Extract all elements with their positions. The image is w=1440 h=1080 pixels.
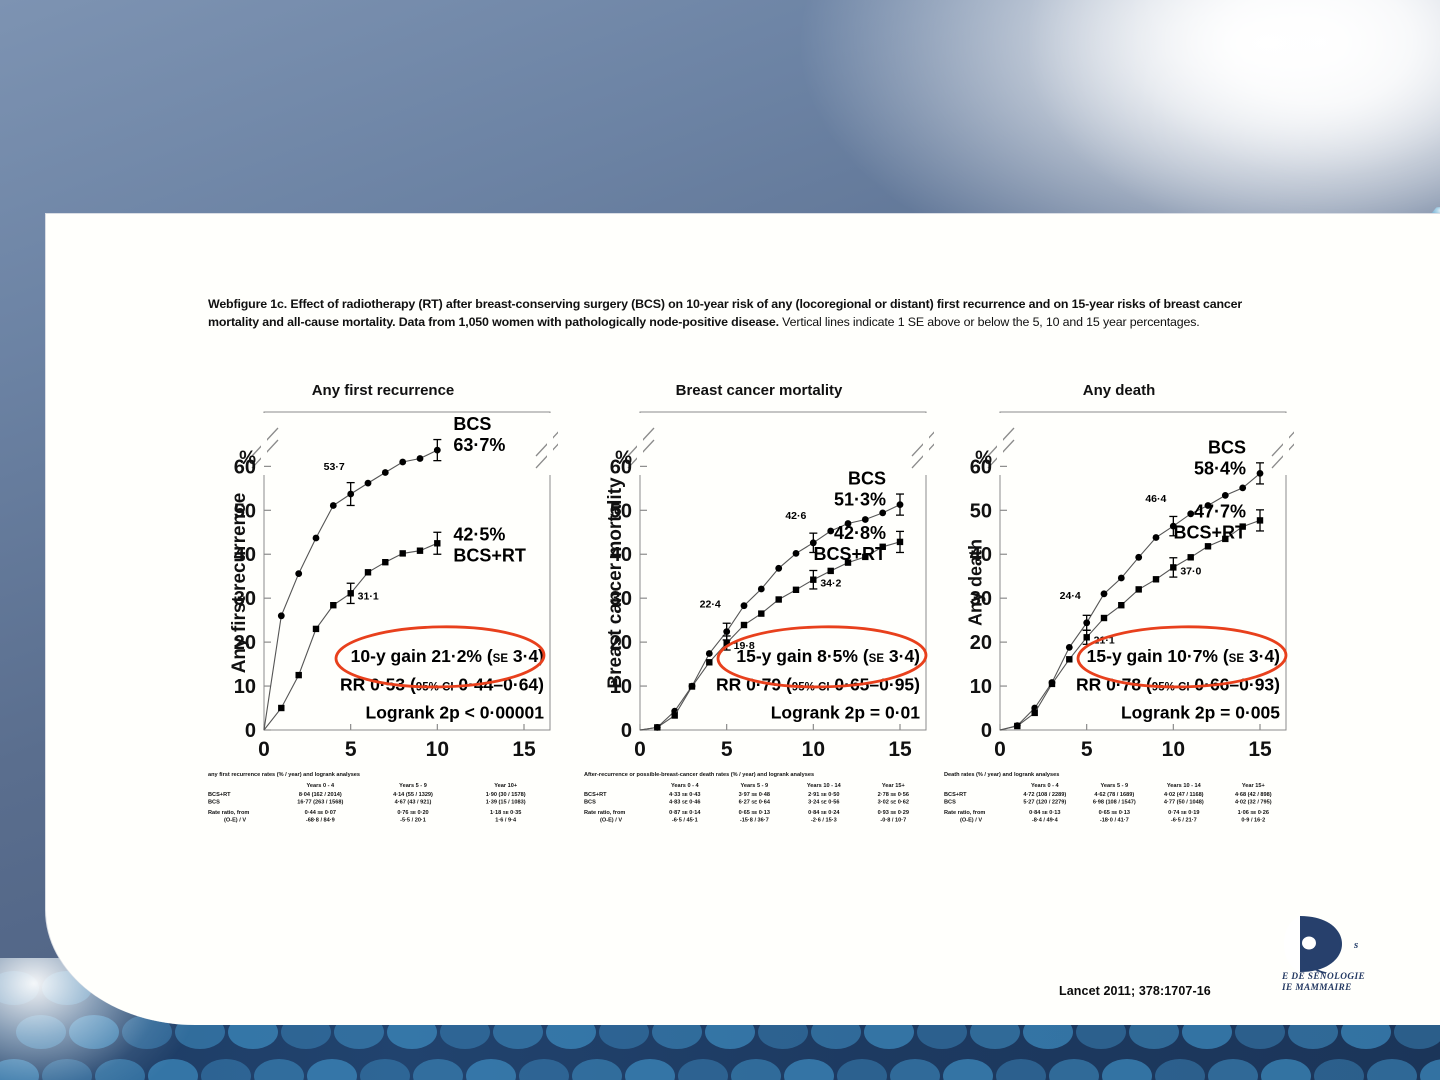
svg-text:Year 10+: Year 10+ xyxy=(494,783,518,789)
svg-text:0: 0 xyxy=(994,738,1006,761)
svg-text:2·91 SE 0·50: 2·91 SE 0·50 xyxy=(808,792,839,798)
svg-text:10: 10 xyxy=(802,738,825,761)
slide-content-card: Webfigure 1c. Effect of radiotherapy (RT… xyxy=(45,213,1440,1025)
y-axis-title: Breast cancer mortality xyxy=(605,443,627,723)
svg-text:0·76 SE 0·20: 0·76 SE 0·20 xyxy=(397,810,428,816)
source-citation: Lancet 2011; 378:1707-16 xyxy=(1059,984,1211,998)
chart-panel-any-death: Any death 0102030405060%051015years24·44… xyxy=(944,382,1294,832)
svg-text:-2·6 / 15·3: -2·6 / 15·3 xyxy=(811,818,837,824)
svg-text:34·2: 34·2 xyxy=(820,578,841,590)
svg-text:22·4: 22·4 xyxy=(700,599,721,611)
svg-text:4·62 (78 / 1689): 4·62 (78 / 1689) xyxy=(1094,792,1134,798)
svg-text:0·65 SE 0·13: 0·65 SE 0·13 xyxy=(739,810,770,816)
svg-text:2·78 SE 0·56: 2·78 SE 0·56 xyxy=(878,792,909,798)
svg-text:Years 10 - 14: Years 10 - 14 xyxy=(807,783,842,789)
svg-text:3·24 SE 0·56: 3·24 SE 0·56 xyxy=(808,800,839,806)
y-axis-title: Any first recurrence xyxy=(229,443,251,723)
svg-text:Rate ratio, from: Rate ratio, from xyxy=(584,810,625,816)
svg-text:BCS: BCS xyxy=(453,414,491,434)
figure-caption: Webfigure 1c. Effect of radiotherapy (RT… xyxy=(208,296,1270,331)
svg-text:15: 15 xyxy=(888,738,912,761)
svg-text:4·02 (47 / 1168): 4·02 (47 / 1168) xyxy=(1164,792,1204,798)
svg-text:6·98 (108 / 1547): 6·98 (108 / 1547) xyxy=(1093,800,1136,806)
svg-text:4·14 (55 / 1329): 4·14 (55 / 1329) xyxy=(393,792,433,798)
svg-text:0·87 SE 0·14: 0·87 SE 0·14 xyxy=(669,810,701,816)
risk-table-0: any first recurrence rates (% / year) an… xyxy=(208,768,558,837)
svg-text:0·84 SE 0·24: 0·84 SE 0·24 xyxy=(808,810,840,816)
svg-text:0·74 SE 0·19: 0·74 SE 0·19 xyxy=(1168,810,1199,816)
chart-panel-breast-cancer-mortality: Breast cancer mortality 0102030405060%05… xyxy=(584,382,934,832)
svg-text:-6·5 / 45·1: -6·5 / 45·1 xyxy=(672,818,698,824)
svg-text:5: 5 xyxy=(345,738,357,761)
plot-area-1[interactable]: 0102030405060%051015years22·442·619·834·… xyxy=(584,402,934,773)
svg-text:24·4: 24·4 xyxy=(1060,590,1081,602)
plot-area-0[interactable]: 0102030405060%051015years53·731·1BCS63·7… xyxy=(208,402,558,773)
svg-text:4·72 (108 / 2289): 4·72 (108 / 2289) xyxy=(1023,792,1066,798)
svg-text:4·77 (50 / 1048): 4·77 (50 / 1048) xyxy=(1164,800,1204,806)
svg-text:4·67 (43 / 921): 4·67 (43 / 921) xyxy=(395,800,432,806)
svg-text:5: 5 xyxy=(1081,738,1093,761)
svg-text:10: 10 xyxy=(1162,738,1185,761)
svg-text:4·33 SE 0·43: 4·33 SE 0·43 xyxy=(669,792,700,798)
svg-text:BCS: BCS xyxy=(944,800,956,806)
svg-text:4·83 SE 0·46: 4·83 SE 0·46 xyxy=(669,800,700,806)
risk-table-1: After-recurrence or possible-breast-canc… xyxy=(584,768,934,837)
svg-text:-68·8 / 84·9: -68·8 / 84·9 xyxy=(306,818,335,824)
svg-text:0·65 SE 0·13: 0·65 SE 0·13 xyxy=(1099,810,1130,816)
y-axis-title: Any death xyxy=(966,443,987,723)
svg-text:1·39 (15 / 1083): 1·39 (15 / 1083) xyxy=(486,800,526,806)
svg-text:0·44 SE 0·07: 0·44 SE 0·07 xyxy=(305,810,336,816)
svg-text:10: 10 xyxy=(426,738,449,761)
svg-text:s: s xyxy=(1353,939,1358,951)
svg-text:4·02 (32 / 795): 4·02 (32 / 795) xyxy=(1235,800,1272,806)
svg-text:1·18 SE 0·35: 1·18 SE 0·35 xyxy=(490,810,521,816)
logo-text: E DE SÉNOLOGIE IE MAMMAIRE xyxy=(1282,972,1365,995)
svg-text:BCS: BCS xyxy=(208,800,220,806)
svg-text:8·04 (162 / 2014): 8·04 (162 / 2014) xyxy=(299,792,342,798)
svg-text:0: 0 xyxy=(981,720,992,742)
svg-text:Logrank 2p = 0·01: Logrank 2p = 0·01 xyxy=(771,703,921,723)
svg-text:37·0: 37·0 xyxy=(1180,565,1201,577)
svg-text:16·77 (263 / 1568): 16·77 (263 / 1568) xyxy=(297,800,343,806)
svg-text:3·02 SE 0·62: 3·02 SE 0·62 xyxy=(878,800,909,806)
svg-text:Years 0 - 4: Years 0 - 4 xyxy=(671,783,700,789)
chart-panel-any-first-recurrence: Any first recurrence 0102030405060%05101… xyxy=(208,382,558,832)
svg-text:Rate ratio, from: Rate ratio, from xyxy=(208,810,249,816)
svg-text:1·06 SE 0·26: 1·06 SE 0·26 xyxy=(1238,810,1269,816)
svg-text:63·7%: 63·7% xyxy=(453,435,505,455)
svg-text:0: 0 xyxy=(245,720,256,742)
svg-text:Years 5 - 9: Years 5 - 9 xyxy=(399,783,427,789)
svg-text:3·97 SE 0·48: 3·97 SE 0·48 xyxy=(739,792,770,798)
svg-text:5·27 (120 / 2279): 5·27 (120 / 2279) xyxy=(1023,800,1066,806)
svg-text:1·6 / 9·4: 1·6 / 9·4 xyxy=(495,818,517,824)
chart-title: Any first recurrence xyxy=(208,382,558,399)
svg-text:Years 5 - 9: Years 5 - 9 xyxy=(1100,783,1128,789)
svg-text:Year 15+: Year 15+ xyxy=(882,783,906,789)
svg-text:10-y gain 21·2% (SE 3·4): 10-y gain 21·2% (SE 3·4) xyxy=(351,646,544,666)
svg-text:(O-E) / V: (O-E) / V xyxy=(960,818,982,824)
svg-text:Years 5 - 9: Years 5 - 9 xyxy=(740,783,768,789)
svg-text:BCS+RT: BCS+RT xyxy=(944,792,967,798)
svg-text:BCS: BCS xyxy=(848,469,886,489)
svg-text:4·68 (42 / 898): 4·68 (42 / 898) xyxy=(1235,792,1272,798)
svg-text:BCS: BCS xyxy=(584,800,596,806)
svg-text:0·93 SE 0·29: 0·93 SE 0·29 xyxy=(878,810,909,816)
svg-text:53·7: 53·7 xyxy=(324,461,345,473)
svg-text:0·84 SE 0·13: 0·84 SE 0·13 xyxy=(1029,810,1060,816)
logo-text-line2: IE MAMMAIRE xyxy=(1282,983,1365,994)
figure-caption-light: Vertical lines indicate 1 SE above or be… xyxy=(779,315,1200,329)
svg-text:15: 15 xyxy=(1248,738,1272,761)
svg-text:46·4: 46·4 xyxy=(1145,493,1166,505)
svg-text:-18·0 / 41·7: -18·0 / 41·7 xyxy=(1100,818,1129,824)
svg-text:(O-E) / V: (O-E) / V xyxy=(224,818,246,824)
svg-text:Years 0 - 4: Years 0 - 4 xyxy=(1031,783,1060,789)
svg-text:15-y gain 8·5% (SE 3·4): 15-y gain 8·5% (SE 3·4) xyxy=(736,646,920,666)
svg-text:15: 15 xyxy=(512,738,536,761)
svg-text:(O-E) / V: (O-E) / V xyxy=(600,818,622,824)
svg-text:42·8%: 42·8% xyxy=(834,523,886,543)
plot-area-2[interactable]: 0102030405060%051015years24·446·421·137·… xyxy=(944,402,1294,773)
svg-text:Logrank 2p = 0·005: Logrank 2p = 0·005 xyxy=(1121,703,1280,723)
societe-de-senologie-logo: s E DE SÉNOLOGIE IE MAMMAIRE xyxy=(1282,914,1440,1000)
svg-text:0: 0 xyxy=(634,738,646,761)
svg-text:After-recurrence or possible-b: After-recurrence or possible-breast-canc… xyxy=(584,772,814,778)
chart-title: Any death xyxy=(944,382,1294,399)
svg-text:42·5%: 42·5% xyxy=(453,524,505,544)
svg-text:47·7%: 47·7% xyxy=(1194,501,1246,521)
svg-text:31·1: 31·1 xyxy=(358,590,379,602)
svg-text:1·90 (30 / 1578): 1·90 (30 / 1578) xyxy=(486,792,526,798)
svg-text:0: 0 xyxy=(621,720,632,742)
svg-text:Years 10 - 14: Years 10 - 14 xyxy=(1167,783,1202,789)
svg-text:Logrank 2p < 0·00001: Logrank 2p < 0·00001 xyxy=(366,703,545,723)
chart-title: Breast cancer mortality xyxy=(584,382,934,399)
logo-text-line1: E DE SÉNOLOGIE xyxy=(1282,972,1365,983)
svg-text:-6·5 / 21·7: -6·5 / 21·7 xyxy=(1171,818,1197,824)
svg-text:58·4%: 58·4% xyxy=(1194,458,1246,478)
svg-text:-0·8 / 10·7: -0·8 / 10·7 xyxy=(880,818,906,824)
svg-text:BCS+RT: BCS+RT xyxy=(813,544,886,564)
svg-text:-15·8 / 36·7: -15·8 / 36·7 xyxy=(740,818,769,824)
svg-text:Year 15+: Year 15+ xyxy=(1242,783,1266,789)
svg-text:42·6: 42·6 xyxy=(785,510,806,522)
svg-text:BCS+RT: BCS+RT xyxy=(584,792,607,798)
svg-text:0: 0 xyxy=(258,738,270,761)
svg-text:BCS+RT: BCS+RT xyxy=(1173,522,1246,542)
svg-text:any first recurrence rates (%: any first recurrence rates (% / year) an… xyxy=(208,772,360,778)
svg-text:BCS: BCS xyxy=(1208,437,1246,457)
svg-text:Years 0 - 4: Years 0 - 4 xyxy=(306,783,335,789)
svg-text:Rate ratio, from: Rate ratio, from xyxy=(944,810,985,816)
svg-text:-8·4 / 49·4: -8·4 / 49·4 xyxy=(1032,818,1059,824)
svg-text:5: 5 xyxy=(721,738,733,761)
svg-text:0·9 / 16·2: 0·9 / 16·2 xyxy=(1241,818,1265,824)
svg-text:51·3%: 51·3% xyxy=(834,490,886,510)
svg-text:Death rates (% / year) and log: Death rates (% / year) and logrank analy… xyxy=(944,772,1059,778)
svg-text:BCS+RT: BCS+RT xyxy=(453,545,526,565)
svg-text:BCS+RT: BCS+RT xyxy=(208,792,231,798)
svg-text:6·27 SE 0·64: 6·27 SE 0·64 xyxy=(739,800,771,806)
risk-table-2: Death rates (% / year) and logrank analy… xyxy=(944,768,1294,837)
svg-text:-5·5 / 20·1: -5·5 / 20·1 xyxy=(400,818,426,824)
svg-text:15-y gain 10·7% (SE 3·4): 15-y gain 10·7% (SE 3·4) xyxy=(1087,646,1280,666)
